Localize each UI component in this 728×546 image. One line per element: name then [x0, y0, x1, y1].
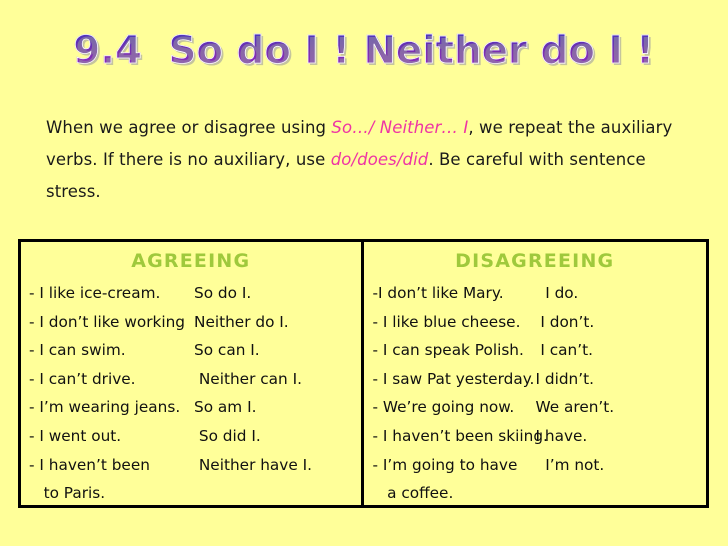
- row-cue: - I like ice-cream.: [21, 279, 194, 308]
- table-row: - I don’t like working Neither do I.: [21, 308, 361, 337]
- row-response: Neither can I.: [194, 365, 354, 394]
- row-cue: -I don’t like Mary.: [364, 279, 536, 308]
- slide: 9.4So do I ! Neither do I ! When we agre…: [0, 0, 728, 546]
- row-response: [536, 479, 696, 508]
- row-response: So can I.: [194, 336, 354, 365]
- table-row: - We’re going now. We aren’t.: [364, 393, 707, 422]
- row-response: Neither do I.: [194, 308, 354, 337]
- table-row: - I like ice-cream. So do I.: [21, 279, 361, 308]
- title-number: 9.4: [74, 28, 143, 72]
- row-cue: to Paris.: [21, 479, 194, 508]
- row-cue: - I went out.: [21, 422, 194, 451]
- table-row: -I don’t like Mary. I do.: [364, 279, 707, 308]
- rows-disagreeing: -I don’t like Mary. I do. - I like blue …: [364, 279, 707, 508]
- column-header-disagreeing: DISAGREEING: [364, 247, 707, 275]
- row-response: We aren’t.: [536, 393, 696, 422]
- table-row: - I’m wearing jeans. So am I.: [21, 393, 361, 422]
- table-row: - I can speak Polish. I can’t.: [364, 336, 707, 365]
- row-response: I don’t.: [536, 308, 696, 337]
- table-row: - I can swim. So can I.: [21, 336, 361, 365]
- row-response: I didn’t.: [536, 365, 696, 394]
- rows-agreeing: - I like ice-cream. So do I. - I don’t l…: [21, 279, 361, 508]
- table-row: - I’m going to have I’m not.: [364, 451, 707, 480]
- table-row: - I went out. So did I.: [21, 422, 361, 451]
- table-row: - I like blue cheese. I don’t.: [364, 308, 707, 337]
- row-cue: - I like blue cheese.: [364, 308, 536, 337]
- row-cue: - I can swim.: [21, 336, 194, 365]
- row-cue: - I don’t like working: [21, 308, 194, 337]
- row-response: I’m not.: [536, 451, 696, 480]
- column-header-agreeing: AGREEING: [21, 247, 361, 275]
- column-agreeing: AGREEING - I like ice-cream. So do I. - …: [21, 242, 364, 505]
- row-cue: - I saw Pat yesterday.: [364, 365, 536, 394]
- row-cue: a coffee.: [364, 479, 536, 508]
- row-response: [194, 479, 354, 508]
- table-row: - I haven’t been Neither have I.: [21, 451, 361, 480]
- row-response: So am I.: [194, 393, 354, 422]
- intro-highlight-do-does-did: do/does/did: [331, 150, 429, 169]
- row-cue: - I can’t drive.: [21, 365, 194, 394]
- slide-title: 9.4So do I ! Neither do I !: [0, 27, 728, 73]
- title-text: So do I ! Neither do I !: [169, 28, 654, 72]
- intro-part-1: When we agree or disagree using: [46, 118, 331, 137]
- table-row: a coffee.: [364, 479, 707, 508]
- table-row: - I saw Pat yesterday. I didn’t.: [364, 365, 707, 394]
- row-response: So did I.: [194, 422, 354, 451]
- row-cue: - We’re going now.: [364, 393, 536, 422]
- row-response: I can’t.: [536, 336, 696, 365]
- row-cue: - I haven’t been skiing.: [364, 422, 536, 451]
- table-row: - I can’t drive. Neither can I.: [21, 365, 361, 394]
- row-cue: - I’m going to have: [364, 451, 536, 480]
- row-response: I do.: [536, 279, 696, 308]
- title-wordart: 9.4So do I ! Neither do I !: [74, 27, 655, 73]
- row-response: So do I.: [194, 279, 354, 308]
- row-response: Neither have I.: [194, 451, 354, 480]
- column-disagreeing: DISAGREEING -I don’t like Mary. I do. - …: [364, 242, 707, 505]
- table-row: to Paris.: [21, 479, 361, 508]
- row-cue: - I’m wearing jeans.: [21, 393, 194, 422]
- table-row: - I haven’t been skiing. I have.: [364, 422, 707, 451]
- examples-table: AGREEING - I like ice-cream. So do I. - …: [18, 239, 709, 508]
- intro-highlight-so-neither: So…/ Neither… I: [331, 118, 468, 137]
- intro-paragraph: When we agree or disagree using So…/ Nei…: [46, 112, 696, 208]
- row-cue: - I can speak Polish.: [364, 336, 536, 365]
- row-response: I have.: [536, 422, 696, 451]
- row-cue: - I haven’t been: [21, 451, 194, 480]
